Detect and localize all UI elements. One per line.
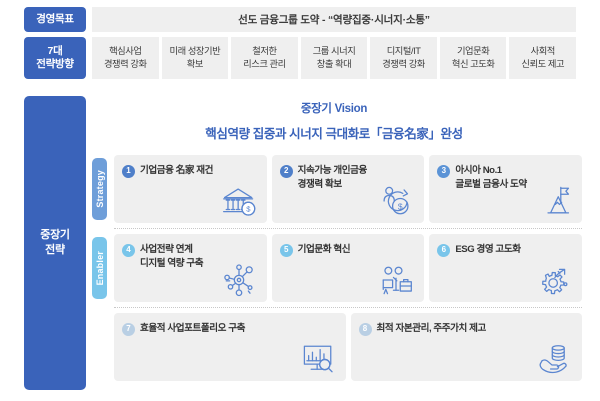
gear-arrow-icon: [535, 263, 573, 297]
direction-box-1: 핵심사업 경쟁력 강화: [92, 37, 159, 79]
direction-box-3: 철저한 리스크 관리: [231, 37, 298, 79]
bank-icon: $: [220, 184, 258, 218]
foundation-card-8[interactable]: 8 최적 자본관리, 주주가치 제고: [351, 313, 583, 381]
enabler-card-4[interactable]: 4 사업전략 연계 디지털 역량 구축: [114, 234, 267, 302]
management-goal-label: 경영목표: [24, 7, 86, 32]
vertical-tab-strategy: Strategy: [92, 158, 107, 220]
strategy-cards-area: Strategy 1 기업금융 名家 재건: [92, 155, 582, 386]
strategy-card-3-badge: 3: [437, 165, 450, 178]
enabler-card-6[interactable]: 6 ESG 경영 고도화: [429, 234, 582, 302]
direction-box-6: 기업문화 혁신 고도화: [440, 37, 507, 79]
band-foundation-cards: 7 효율적 사업포트폴리오 구축: [114, 313, 582, 381]
enabler-card-4-badge: 4: [122, 244, 135, 257]
band-strategy: Strategy 1 기업금융 名家 재건: [92, 155, 582, 223]
foundation-card-7-badge: 7: [122, 323, 135, 336]
strategy-card-3[interactable]: 3 아시아 No.1 글로벌 금융사 도약: [429, 155, 582, 223]
strategy-card-2[interactable]: 2 지속가능 개인금융 경쟁력 확보 $: [272, 155, 425, 223]
direction-box-4: 그룹 시너지 창출 확대: [301, 37, 368, 79]
vision-subtitle: 핵심역량 집중과 시너지 극대화로「금융名家」완성: [92, 123, 576, 142]
enabler-card-5-head: 5 기업문화 혁신: [280, 243, 417, 257]
enabler-card-6-badge: 6: [437, 244, 450, 257]
network-nodes-icon: [220, 263, 258, 297]
mountain-flag-icon: [535, 184, 573, 218]
band-separator-2: [114, 307, 582, 308]
vertical-tab-enabler: Enabler: [92, 237, 107, 299]
foundation-card-8-badge: 8: [359, 323, 372, 336]
foundation-card-8-title: 최적 자본관리, 주주가치 제고: [377, 322, 486, 336]
enabler-card-5-title: 기업문화 혁신: [298, 243, 350, 257]
strategy-card-1-badge: 1: [122, 165, 135, 178]
people-briefcase-icon: [377, 263, 415, 297]
strategic-directions-row: 7대 전략방향 핵심사업 경쟁력 강화 미래 성장기반 확보 철저한 리스크 관…: [0, 37, 600, 79]
band-enabler: Enabler 4 사업전략 연계 디지털 역량 구축: [92, 234, 582, 302]
vision-title: 중장기 Vision: [92, 100, 576, 116]
hand-coins-icon: [535, 342, 573, 376]
midterm-strategy-sidebar-label: 중장기 전략: [24, 96, 86, 390]
band-foundation: 7 효율적 사업포트폴리오 구축: [92, 313, 582, 381]
foundation-card-7-title: 효율적 사업포트폴리오 구축: [140, 322, 245, 336]
enabler-card-5-badge: 5: [280, 244, 293, 257]
strategy-card-1-title: 기업금융 名家 재건: [140, 164, 213, 178]
strategic-directions-list: 핵심사업 경쟁력 강화 미래 성장기반 확보 철저한 리스크 관리 그룹 시너지…: [92, 37, 576, 79]
enabler-card-6-title: ESG 경영 고도화: [455, 243, 520, 257]
direction-box-2: 미래 성장기반 확보: [162, 37, 229, 79]
monitor-chart-search-icon: [299, 342, 337, 376]
enabler-card-6-head: 6 ESG 경영 고도화: [437, 243, 574, 257]
strategy-card-1-head: 1 기업금융 名家 재건: [122, 164, 259, 178]
foundation-card-7[interactable]: 7 효율적 사업포트폴리오 구축: [114, 313, 346, 381]
foundation-card-7-head: 7 효율적 사업포트폴리오 구축: [122, 322, 338, 336]
management-goal-banner: 선도 금융그룹 도약 - “역량집중·시너지·소통”: [92, 7, 576, 32]
band-separator-1: [114, 228, 582, 229]
strategy-card-2-title: 지속가능 개인금융 경쟁력 확보: [298, 164, 367, 192]
vertical-tab-strategy-label: Strategy: [95, 170, 105, 208]
strategic-directions-label: 7대 전략방향: [24, 37, 86, 79]
management-goal-row: 경영목표 선도 금융그룹 도약 - “역량집중·시너지·소통”: [0, 7, 600, 32]
strategy-card-2-badge: 2: [280, 165, 293, 178]
enabler-card-5[interactable]: 5 기업문화 혁신: [272, 234, 425, 302]
direction-box-7: 사회적 신뢰도 제고: [509, 37, 576, 79]
strategy-card-1[interactable]: 1 기업금융 名家 재건 $: [114, 155, 267, 223]
vertical-tab-enabler-label: Enabler: [95, 251, 105, 285]
vision-block: 중장기 Vision 핵심역량 집중과 시너지 극대화로「금융名家」완성: [92, 100, 576, 142]
svg-text:$: $: [398, 202, 403, 212]
strategy-card-3-title: 아시아 No.1 글로벌 금융사 도약: [455, 164, 526, 192]
foundation-card-8-head: 8 최적 자본관리, 주주가치 제고: [359, 322, 575, 336]
enabler-card-4-title: 사업전략 연계 디지털 역량 구축: [140, 243, 203, 271]
band-strategy-cards: 1 기업금융 名家 재건 $: [114, 155, 582, 223]
customer-value-icon: $: [377, 184, 415, 218]
direction-box-5: 디지털/IT 경쟁력 강화: [370, 37, 437, 79]
band-enabler-cards: 4 사업전략 연계 디지털 역량 구축: [114, 234, 582, 302]
